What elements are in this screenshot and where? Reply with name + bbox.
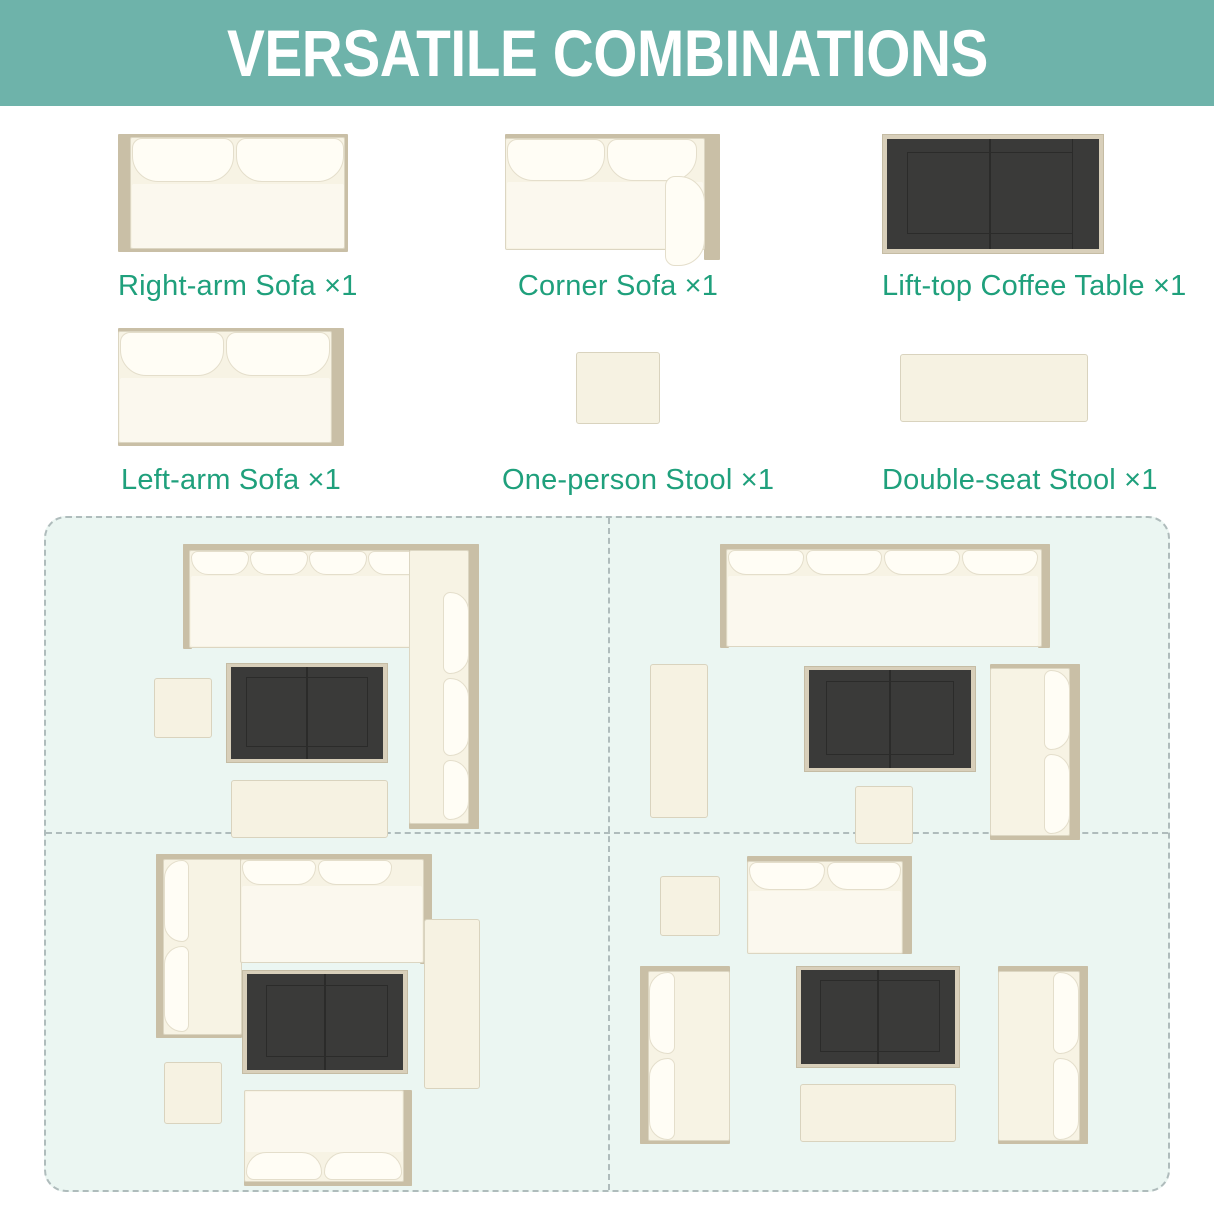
layout3-double-seat-stool [424, 919, 480, 1089]
layout4-sofa-left [640, 966, 730, 1144]
layout1-one-person-stool [154, 678, 212, 738]
layout2-sofa-top [720, 544, 1050, 648]
one-person-stool-icon [502, 328, 734, 448]
left-arm-sofa-icon [118, 328, 344, 448]
legend-grid: Right-arm Sofa ×1 Corner Sofa ×1 [0, 106, 1214, 496]
combination-layout-4 [610, 834, 1168, 1190]
layout4-sofa-right [998, 966, 1088, 1144]
page-title: VERSATILE COMBINATIONS [226, 15, 987, 91]
layout2-double-seat-stool [650, 664, 708, 818]
layout4-double-seat-stool [800, 1084, 956, 1142]
coffee-table-icon [882, 134, 1104, 254]
right-arm-sofa-icon [118, 134, 348, 254]
layout1-coffee-table [226, 663, 388, 763]
double-seat-stool-icon [882, 328, 1104, 448]
header-banner: VERSATILE COMBINATIONS [0, 0, 1214, 106]
legend-item-coffee-table: Lift-top Coffee Table ×1 [882, 134, 1104, 304]
legend-label-corner-sofa: Corner Sofa ×1 [505, 270, 731, 303]
layout1-sofa-right-return [409, 544, 479, 829]
legend-label-one-person-stool: One-person Stool ×1 [502, 464, 734, 497]
layout3-coffee-table [242, 970, 408, 1074]
legend-label-left-arm-sofa: Left-arm Sofa ×1 [118, 464, 344, 497]
legend-item-one-person-stool: One-person Stool ×1 [502, 328, 734, 498]
legend-item-right-arm-sofa: Right-arm Sofa ×1 [118, 134, 348, 304]
combination-layout-3 [46, 834, 608, 1190]
combination-layout-2 [610, 518, 1168, 832]
combination-layout-1 [46, 518, 608, 832]
layout2-sofa-right [990, 664, 1080, 840]
layout1-sofa-top [183, 544, 439, 649]
legend-label-coffee-table: Lift-top Coffee Table ×1 [882, 270, 1104, 303]
layout4-coffee-table [796, 966, 960, 1068]
legend-item-left-arm-sofa: Left-arm Sofa ×1 [118, 328, 344, 498]
layout3-sofa-bottom [244, 1090, 412, 1186]
corner-sofa-icon [505, 134, 731, 264]
combinations-panel [44, 516, 1170, 1192]
legend-item-corner-sofa: Corner Sofa ×1 [505, 134, 731, 304]
layout3-sofa-top [240, 854, 432, 964]
layout4-sofa-top [747, 856, 912, 954]
legend-label-double-seat-stool: Double-seat Stool ×1 [882, 464, 1104, 497]
legend-label-right-arm-sofa: Right-arm Sofa ×1 [118, 270, 348, 303]
layout2-coffee-table [804, 666, 976, 772]
layout3-sofa-left-leg [156, 854, 242, 1038]
infographic-root: VERSATILE COMBINATIONS Right-arm Sofa ×1 [0, 0, 1214, 1214]
layout1-double-seat-stool [231, 780, 388, 838]
layout4-one-person-stool [660, 876, 720, 936]
legend-item-double-seat-stool: Double-seat Stool ×1 [882, 328, 1104, 498]
layout3-one-person-stool [164, 1062, 222, 1124]
